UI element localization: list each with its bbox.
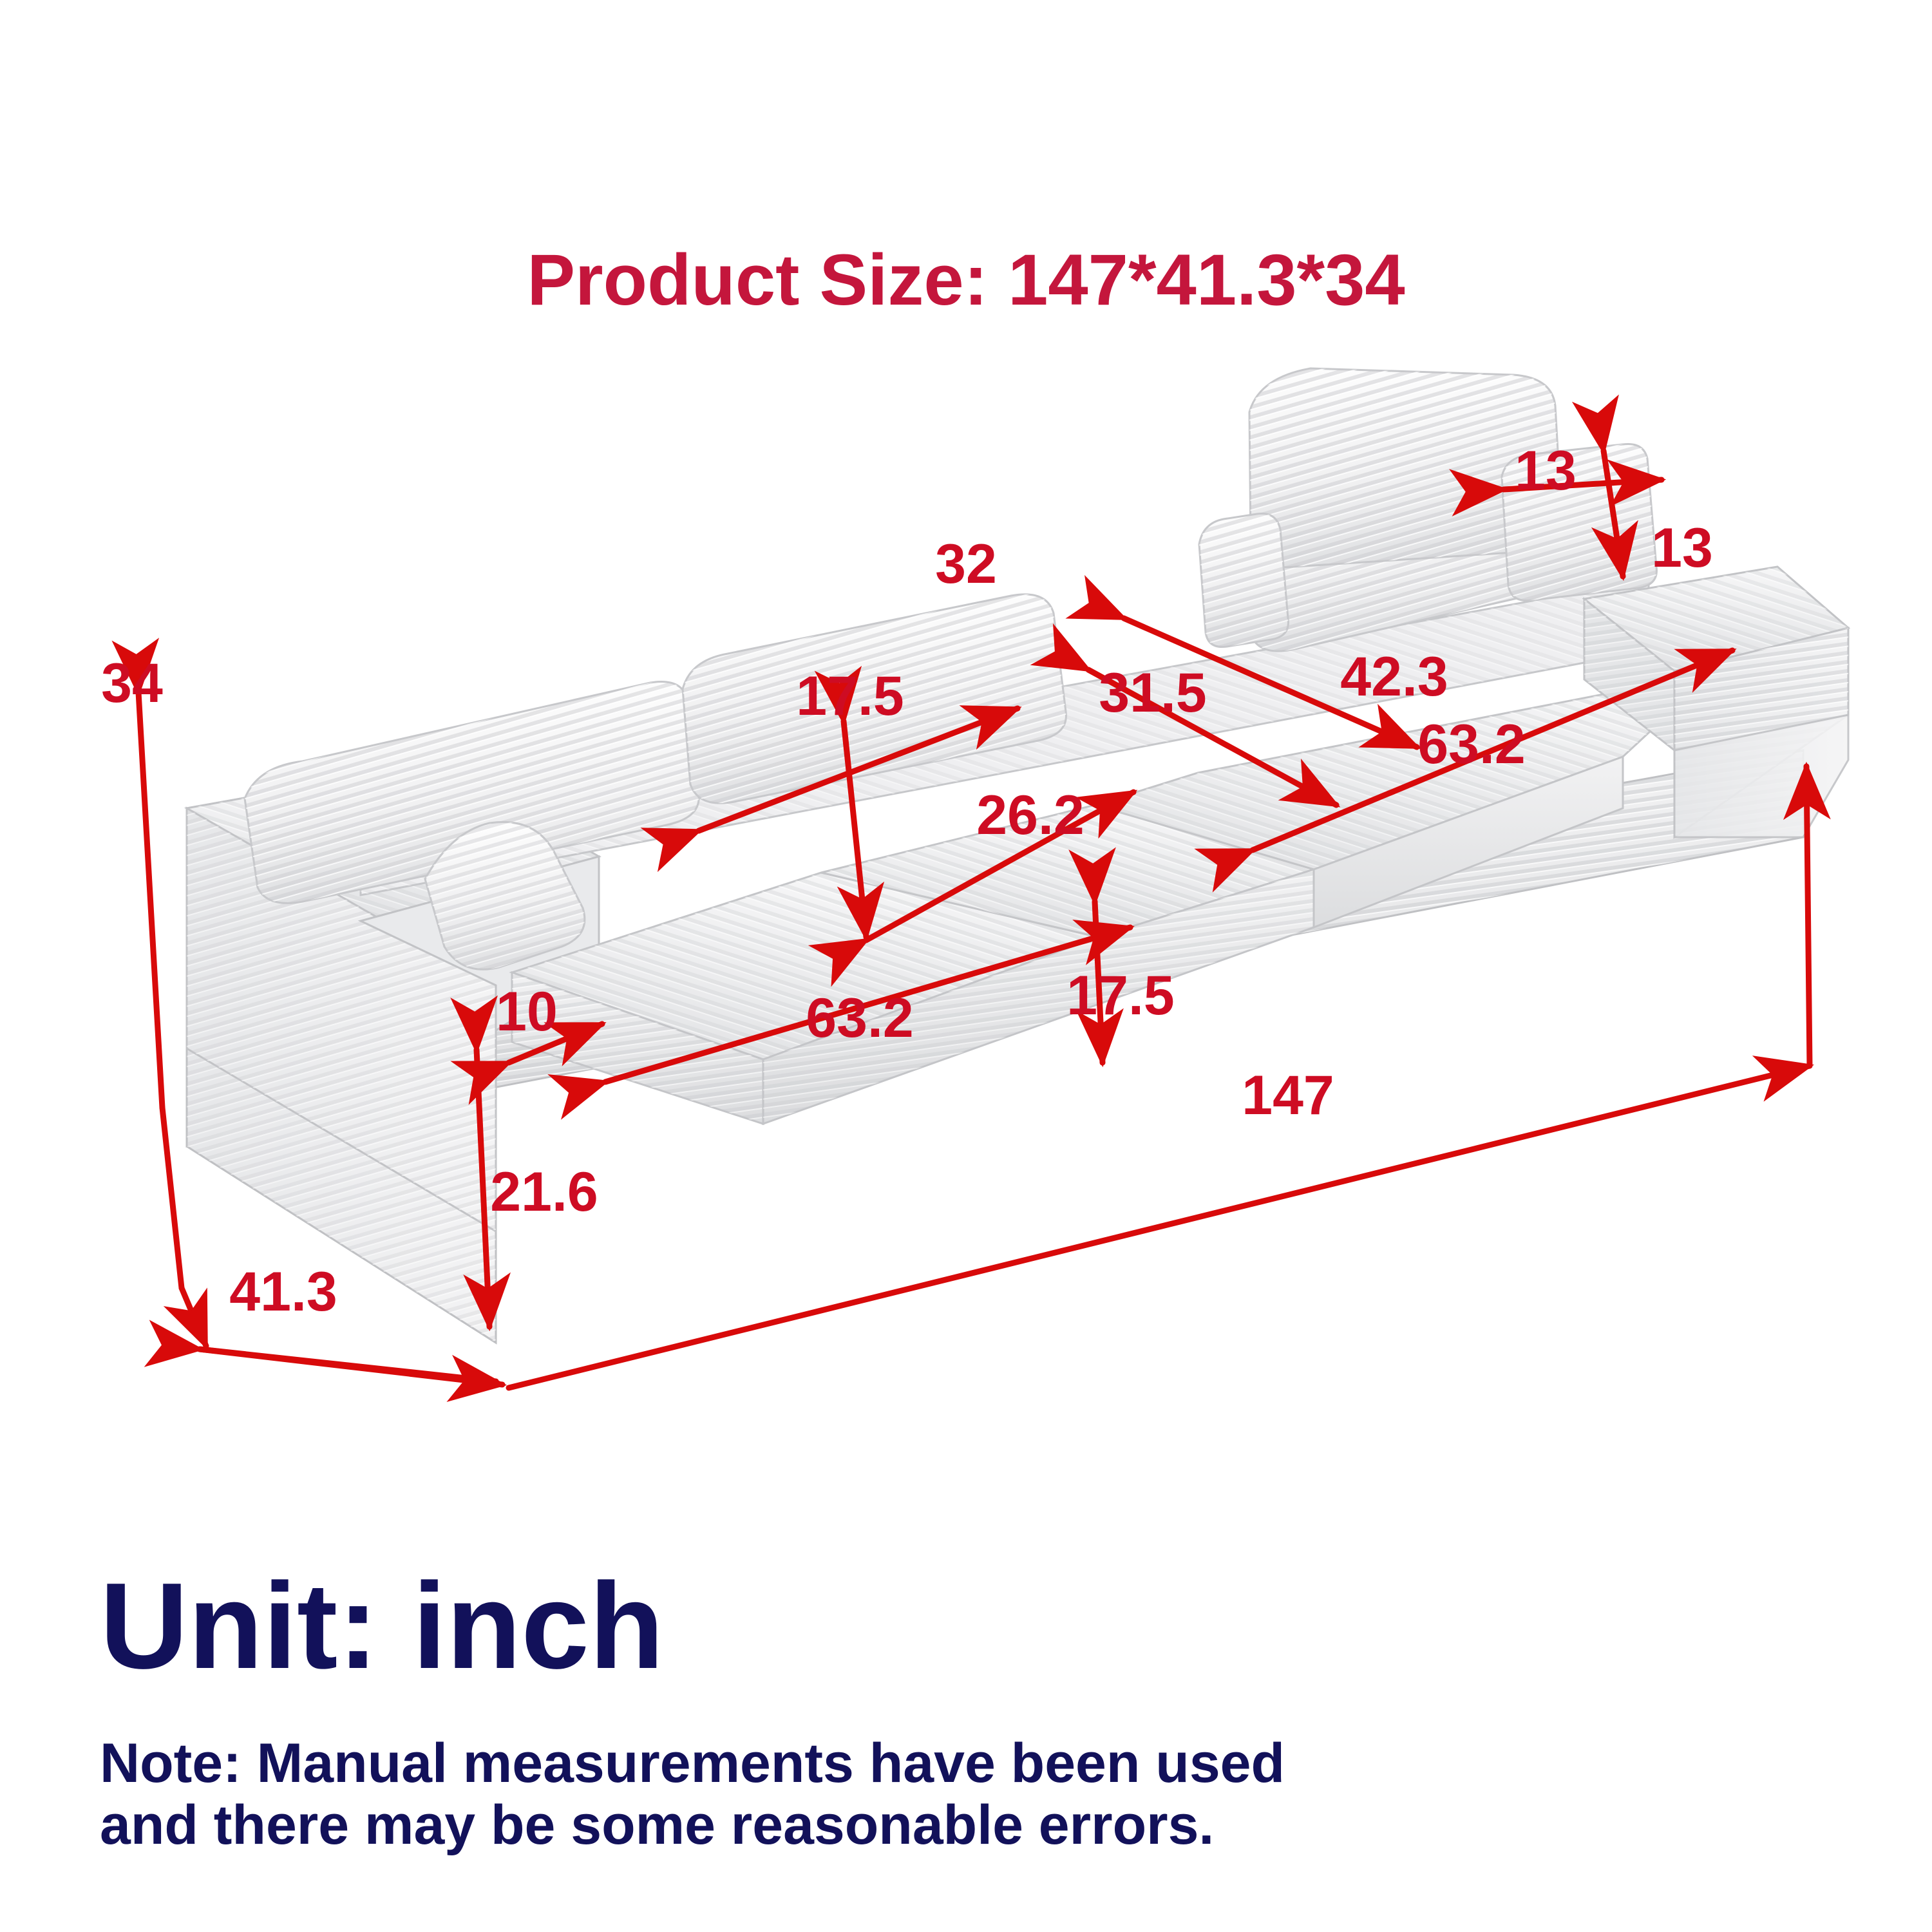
dim-label-chaise-width: 42.3 [1340,646,1448,708]
dim-label-seat-cushion-height: 17.5 [1066,965,1174,1027]
dim-label-seat-width-left: 63.2 [806,987,913,1049]
dim-line-overall-length [509,1066,1810,1388]
dim-label-seat-height: 21.6 [490,1161,598,1223]
note-line-1: Note: Manual measurements have been used [100,1732,1581,1794]
dim-label-seat-width-right: 63.2 [1417,714,1525,775]
dim-label-bolster-height: 13 [1651,517,1713,579]
dim-label-depth: 41.3 [229,1261,337,1323]
dim-label-overall-length: 147 [1242,1065,1334,1126]
dim-label-overall-height: 34 [101,652,163,714]
dim-label-back-cushion-width: 32 [935,533,997,595]
note-line-2: and there may be some reasonable errors. [100,1794,1581,1856]
dim-label-arm-width-left: 10 [496,981,558,1043]
measurement-note: Note: Manual measurements have been used… [100,1732,1581,1857]
dim-label-seat-depth: 26.2 [976,784,1084,846]
dim-line-overall-height [138,692,162,1108]
dim-label-chaise-depth: 31.5 [1099,662,1206,724]
dim-label-bolster-width: 13 [1515,440,1577,502]
diagram-canvas: Product Size: 147*41.3*34 [0,0,1932,1932]
unit-label: Unit: inch [100,1565,664,1687]
divider-pillow [1199,514,1288,647]
dim-label-back-cushion-height: 17.5 [796,665,904,727]
